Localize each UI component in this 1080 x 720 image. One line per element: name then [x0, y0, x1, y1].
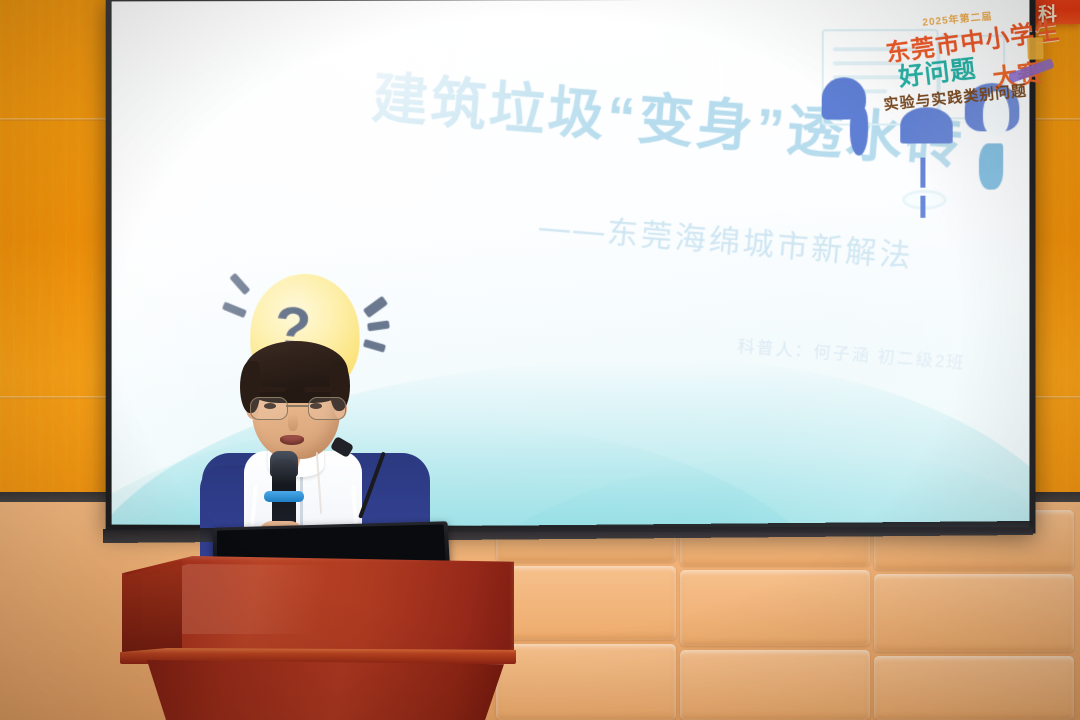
bulb-ray: [363, 296, 388, 318]
photo-stage: 与自然科 ?: [0, 0, 1080, 720]
presenter-eyebrow: [258, 387, 286, 392]
wall-pad: [874, 574, 1074, 652]
slide-subtitle: ——东莞海绵城市新解法: [538, 201, 916, 276]
wall-pad: [874, 656, 1074, 720]
lectern-sheen: [142, 564, 472, 634]
presenter-nose: [288, 413, 298, 431]
wall-pad: [496, 644, 676, 720]
presenter-eyebrow: [304, 387, 332, 392]
lectern-body: [132, 660, 504, 720]
figure-body: [979, 143, 1003, 189]
wall-pad: [680, 570, 870, 646]
logo-badge-icon: [1027, 37, 1044, 60]
bulb-ray: [367, 320, 390, 331]
presenter-mouth: [280, 435, 304, 445]
bulb-ray: [222, 302, 247, 318]
figure-stand: [920, 158, 925, 188]
figure-stand: [920, 196, 925, 218]
glasses-lens: [308, 397, 346, 420]
microphone-ring: [264, 491, 304, 502]
glasses-lens: [250, 397, 288, 420]
wall-pad: [680, 650, 870, 720]
wooden-lectern: [122, 556, 514, 720]
wall-pad: [496, 566, 676, 640]
bulb-ray: [229, 273, 250, 295]
competition-logo: 2025年第二届 东莞市中小学生 好问题 大赛 实验与实践类别问题: [878, 7, 1064, 124]
figure-hair: [850, 107, 868, 155]
glasses-bridge: [286, 405, 308, 407]
